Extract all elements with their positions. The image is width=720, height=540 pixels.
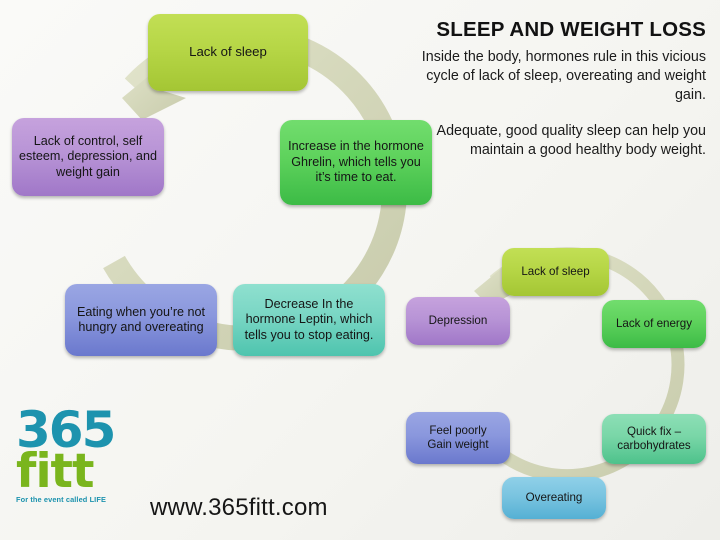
- node-label: Eating when you’re not hungry and overea…: [71, 305, 211, 336]
- node-label: Lack of energy: [608, 317, 700, 331]
- node-label: Lack of control, self esteem, depression…: [18, 134, 158, 180]
- node-lack-of-sleep-energy[interactable]: Lack of sleep: [502, 248, 609, 296]
- brand-logo: 365 fitt For the event called LIFE: [16, 410, 138, 504]
- node-label: Quick fix – carbohydrates: [608, 425, 700, 453]
- header-paragraph-2: Adequate, good quality sleep can help yo…: [410, 122, 706, 160]
- node-label: Lack of sleep: [508, 265, 603, 279]
- node-leptin-decrease[interactable]: Decrease In the hormone Leptin, which te…: [233, 284, 385, 356]
- node-label: Lack of sleep: [154, 44, 302, 60]
- node-eating-when-not-hungry[interactable]: Eating when you’re not hungry and overea…: [65, 284, 217, 356]
- node-label: Overeating: [508, 491, 600, 505]
- node-quick-fix-carbohydrates[interactable]: Quick fix – carbohydrates: [602, 414, 706, 464]
- node-lack-of-control[interactable]: Lack of control, self esteem, depression…: [12, 118, 164, 196]
- node-label: Feel poorly Gain weight: [412, 424, 504, 452]
- node-label: Decrease In the hormone Leptin, which te…: [239, 297, 379, 343]
- node-lack-of-sleep-hormone[interactable]: Lack of sleep: [148, 14, 308, 91]
- node-feel-poorly-gain-weight[interactable]: Feel poorly Gain weight: [406, 412, 510, 464]
- infographic-canvas: Lack of sleep Increase in the hormone Gh…: [0, 0, 720, 540]
- header-paragraph-1: Inside the body, hormones rule in this v…: [410, 48, 706, 105]
- node-label: Depression: [412, 314, 504, 328]
- header-block: SLEEP AND WEIGHT LOSS Inside the body, h…: [410, 18, 706, 160]
- logo-tagline: For the event called LIFE: [16, 495, 138, 504]
- node-depression[interactable]: Depression: [406, 297, 510, 345]
- node-overeating[interactable]: Overeating: [502, 477, 606, 519]
- page-title: SLEEP AND WEIGHT LOSS: [410, 18, 706, 42]
- logo-word: fitt: [16, 452, 138, 492]
- node-label: Increase in the hormone Ghrelin, which t…: [286, 139, 426, 185]
- website-url[interactable]: www.365fitt.com: [150, 494, 328, 522]
- node-lack-of-energy[interactable]: Lack of energy: [602, 300, 706, 348]
